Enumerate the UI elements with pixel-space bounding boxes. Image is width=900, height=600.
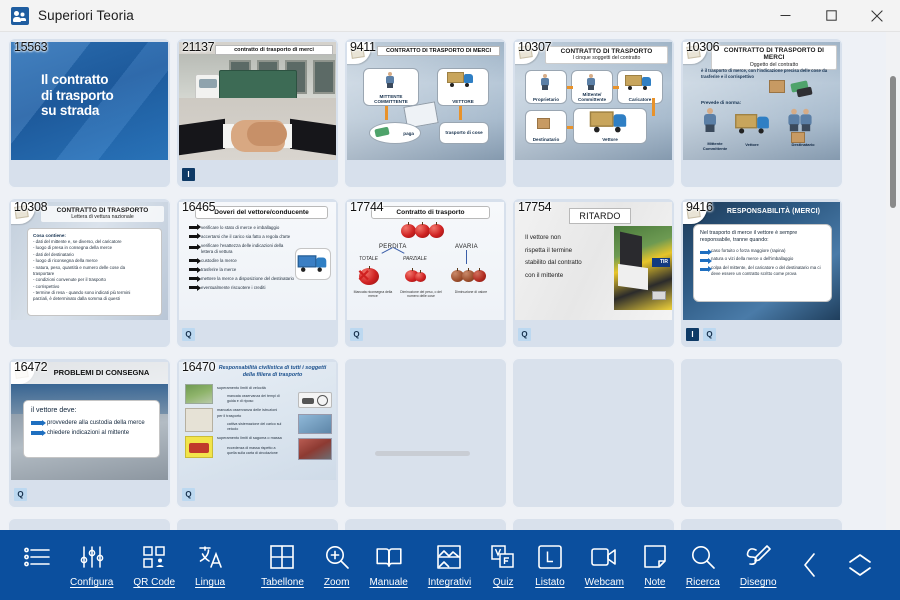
badge-quiz[interactable]: Q [14,488,27,501]
badge-quiz[interactable]: Q [518,328,531,341]
integrativi-button[interactable]: Integrativi [418,542,481,588]
slide-cell [176,518,344,530]
slide-cell: RESPONSABILITÀ (MERCI) Nel trasporto di … [680,198,848,358]
empty-slide-card[interactable] [176,518,339,530]
lingua-button[interactable]: Lingua [185,542,235,588]
slide-cell: CONTRATTO DI TRASPORTO I cinque soggetti… [512,38,680,198]
slide-title-block: CONTRATTO DI TRASPORTO Lettera di vettur… [41,206,164,222]
magnifier-icon [691,542,715,572]
slide-number: 15563 [14,40,47,54]
label-parziale: PARZIALE [403,256,427,262]
bottom-toolbar: Configura QR Code [0,530,900,600]
magnifier-plus-icon [325,542,349,572]
application-window: Superiori Teoria Il contratto [0,0,900,600]
zoom-button[interactable]: Zoom [314,542,360,588]
minimize-icon[interactable] [762,0,808,32]
slide-cell: Contratto di trasporto PERDITA AVARIA TO… [344,198,512,358]
slide-thumbnail: CONTRATTO DI TRASPORTO Lettera di vettur… [11,202,168,320]
label-trasporto: trasporto di cose [439,122,489,144]
prev-button[interactable] [787,545,833,585]
slide-cell [680,358,848,518]
slide-cell: RITARDO Il vettore non rispetta il termi… [512,198,680,358]
empty-slide-card[interactable] [680,358,843,508]
slide-number: 16472 [14,360,47,374]
caption-3: Diminuzione di valore [449,290,493,294]
slide-card-21137[interactable]: contratto di trasporto di merci 21137 I [176,38,339,188]
slide-thumbnail: Contratto di trasporto PERDITA AVARIA TO… [347,202,504,320]
slide-cell: Il contratto di trasporto su strada 1556… [8,38,176,198]
slide-thumbnail: CONTRATTO DI TRASPORTO I cinque soggetti… [515,42,672,160]
images-icon [437,542,461,572]
empty-slide-card[interactable] [344,518,507,530]
slide-grid: Il contratto di trasporto su strada 1556… [8,38,880,530]
slide-title: PROBLEMI DI CONSEGNA [39,368,164,377]
lead-text: il vettore deve: [31,407,152,414]
badge-list: I Q [686,328,716,341]
badge-list: Q [182,328,195,341]
badge-list: Q [14,488,27,501]
slide-card-16465[interactable]: Doveri del vettore/conducente verificare… [176,198,339,348]
slide-cell: Doveri del vettore/conducente verificare… [176,198,344,358]
book-icon [376,542,402,572]
slide-cell [8,518,176,530]
slide-number: 21137 [182,40,214,54]
slide-card-10308[interactable]: CONTRATTO DI TRASPORTO Lettera di vettur… [8,198,171,348]
updown-button[interactable] [833,545,887,585]
slide-cell: contratto di trasporto di merci 21137 I [176,38,344,198]
people-icon [11,7,29,25]
slide-cell [344,518,512,530]
slide-number: 9411 [350,40,376,54]
close-icon[interactable] [854,0,900,32]
slide-number: 16470 [182,360,215,374]
qr-icon [143,542,165,572]
slide-thumbnail: Il contratto di trasporto su strada [11,42,168,160]
empty-slide-card[interactable] [512,358,675,508]
quiz-button[interactable]: Quiz [481,542,525,588]
note-button[interactable]: Note [634,542,676,588]
slide-title: CONTRATTO DI TRASPORTO DI MERCI [377,46,500,56]
slide-thumbnail: PROBLEMI DI CONSEGNA il vettore deve: pr… [11,362,168,480]
intro-text: Nel trasporto di merce il vettore è semp… [700,230,825,245]
badge-quiz[interactable]: Q [182,328,195,341]
list-icon [24,542,50,572]
slide-number: 17754 [518,200,551,214]
slide-cell [344,358,512,518]
label-vettore: Vettore [735,142,769,147]
slide-number: 10306 [686,40,719,54]
badge-quiz[interactable]: Q [350,328,363,341]
slide-cell: PROBLEMI DI CONSEGNA il vettore deve: pr… [8,358,176,518]
badge-info[interactable]: I [686,328,699,341]
empty-slide-card[interactable] [8,518,171,530]
slide-cell: Responsabilità civilistica di tutti i so… [176,358,344,518]
slide-thumbnail: CONTRATTO DI TRASPORTO DI MERCI Oggetto … [683,42,840,160]
slide-card-10306[interactable]: CONTRATTO DI TRASPORTO DI MERCI Oggetto … [680,38,843,188]
tabellone-button[interactable]: Tabellone [251,542,314,588]
ricerca-button[interactable]: Ricerca [676,542,730,588]
horizontal-scrollbar[interactable] [375,451,470,456]
slide-cell: CONTRATTO DI TRASPORTO Lettera di vettur… [8,198,176,358]
slide-cell [512,518,680,530]
title-bar: Superiori Teoria [0,0,900,32]
vertical-scrollbar-track[interactable] [886,32,900,530]
badge-list: I [182,168,195,181]
empty-slide-card[interactable] [512,518,675,530]
badge-quiz[interactable]: Q [703,328,716,341]
empty-slide-card[interactable] [344,358,507,508]
slide-number: 10308 [14,200,47,214]
content-panel: Nel trasporto di merce il vettore è semp… [693,224,832,302]
menu-list-button[interactable] [14,542,60,572]
slide-card-16472[interactable]: PROBLEMI DI CONSEGNA il vettore deve: pr… [8,358,171,508]
empty-slide-card[interactable] [680,518,843,530]
vertical-scrollbar-thumb[interactable] [890,76,896,208]
video-camera-icon [591,542,617,572]
badge-list: Q [518,328,531,341]
translate-icon [197,542,223,572]
window-title: Superiori Teoria [38,8,134,23]
grid-icon [270,542,294,572]
nav-group [787,545,900,585]
slide-body: Il vettore non rispetta il termine stabi… [525,232,582,283]
label-totale: TOTALE [359,256,378,262]
slide-thumbnail: RITARDO Il vettore non rispetta il termi… [515,202,672,320]
content-panel: il vettore deve: provvedere alla custodi… [23,400,160,458]
slide-card-10307[interactable]: CONTRATTO DI TRASPORTO I cinque soggetti… [512,38,675,188]
slide-thumbnail: RESPONSABILITÀ (MERCI) Nel trasporto di … [683,202,840,320]
pencil-draw-icon [745,542,771,572]
slide-thumbnail: Responsabilità civilistica di tutti i so… [179,362,336,480]
caption-1: Mancata riconsegna della merce [351,290,395,299]
slide-thumbnail: contratto di trasporto di merci [179,42,336,160]
slide-thumbnail: Doveri del vettore/conducente verificare… [179,202,336,320]
qr-code-button[interactable]: QR Code [123,542,185,588]
content-panel: Cosa contiene: - dati del mittente e, se… [27,228,162,316]
slide-card-15563[interactable]: Il contratto di trasporto su strada 1556… [8,38,171,188]
sliders-icon [80,542,104,572]
slide-thumbnail: CONTRATTO DI TRASPORTO DI MERCI MITTENTE… [347,42,504,160]
caption-2: Diminuzione del peso, o del numero delle… [397,290,445,299]
webcam-button[interactable]: Webcam [575,542,634,588]
badge-info[interactable]: I [182,168,195,181]
label-mittente: Mittente Committente [695,142,735,151]
photo-tir: TIR [614,226,672,310]
badge-quiz[interactable]: Q [182,488,195,501]
window-controls [762,0,900,32]
slide-title: contratto di trasporto di merci [215,45,333,55]
slide-card-9411[interactable]: CONTRATTO DI TRASPORTO DI MERCI MITTENTE… [344,38,507,188]
slide-card-17744[interactable]: Contratto di trasporto PERDITA AVARIA TO… [344,198,507,348]
slide-number: 16465 [182,200,215,214]
slide-number: 10307 [518,40,551,54]
cover-title: Il contratto di trasporto su strada [41,72,114,119]
label-destinatario: Destinatario [781,142,825,147]
slide-card-17754[interactable]: RITARDO Il vettore non rispetta il termi… [512,198,675,348]
vf-cards-icon [491,542,515,572]
note-page-icon [644,542,666,572]
slide-cell: CONTRATTO DI TRASPORTO DI MERCI MITTENTE… [344,38,512,198]
slide-title: RESPONSABILITÀ (MERCI) [711,208,836,215]
slide-title-block: CONTRATTO DI TRASPORTO DI MERCI Oggetto … [711,45,837,70]
slide-number: 17744 [350,200,383,214]
badge-list: Q [182,488,195,501]
badge-list: Q [350,328,363,341]
slide-number: 9416 [686,200,713,214]
slide-title: Responsabilità civilistica di tutti i so… [213,365,332,379]
maximize-icon[interactable] [808,0,854,32]
tool-group-left: Configura QR Code [14,542,787,588]
slide-card-9416[interactable]: RESPONSABILITÀ (MERCI) Nel trasporto di … [680,198,843,348]
slide-card-16470[interactable]: Responsabilità civilistica di tutti i so… [176,358,339,508]
slide-title: Contratto di trasporto [371,206,490,219]
manuale-button[interactable]: Manuale [359,542,417,588]
slide-body: è il trasporto di merce, con l'indicazio… [701,68,832,79]
slide-note: Prevede di norma: [701,100,741,105]
slide-title: RITARDO [569,208,631,224]
configura-button[interactable]: Configura [60,542,123,588]
slide-grid-area[interactable]: Il contratto di trasporto su strada 1556… [0,32,900,530]
slide-cell [512,358,680,518]
slide-cell: CONTRATTO DI TRASPORTO DI MERCI Oggetto … [680,38,848,198]
listato-button[interactable]: Listato [525,542,574,588]
slide-cell [680,518,848,530]
next-button[interactable] [887,545,900,585]
handshake-photo [179,98,336,160]
disegno-button[interactable]: Disegno [730,542,787,588]
slide-title-block: CONTRATTO DI TRASPORTO I cinque soggetti… [545,46,668,64]
l-square-icon [538,542,562,572]
